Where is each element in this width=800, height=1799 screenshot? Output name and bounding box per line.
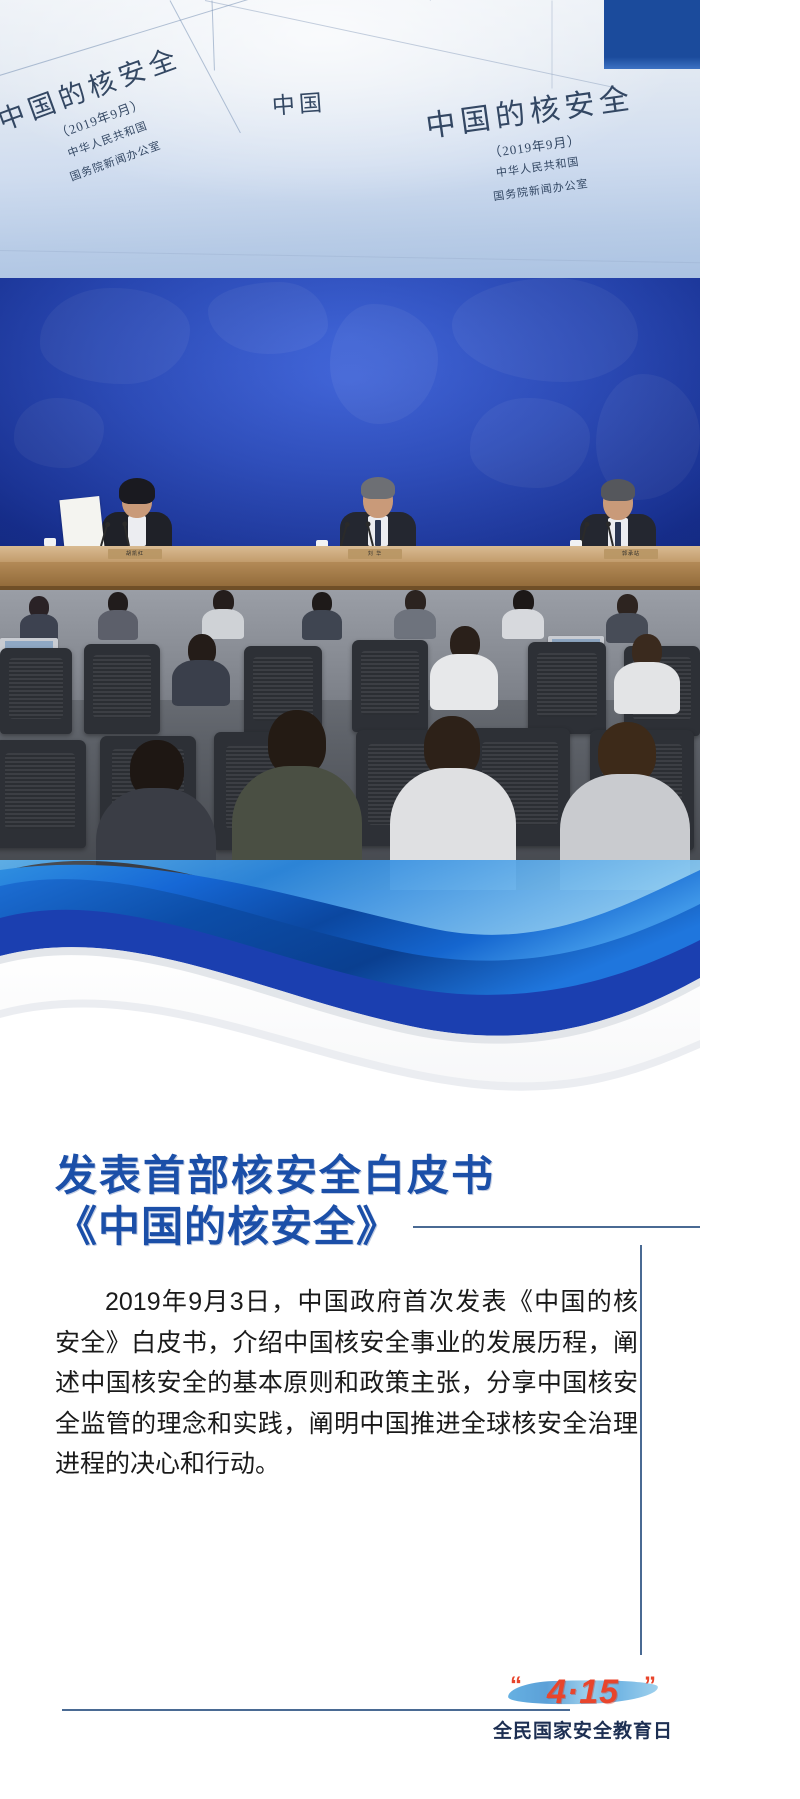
audience-person <box>200 590 246 638</box>
page-title-row2: 《中国的核安全》 <box>0 1201 700 1252</box>
article-content: 发表首部核安全白皮书 《中国的核安全》 2019年9月3日，中国政府首次发表《中… <box>0 1150 700 1485</box>
corner-accent-block-fade <box>604 57 700 69</box>
speaker-hair <box>361 477 395 499</box>
audience-area <box>0 590 700 890</box>
vertical-bracket-rule <box>640 1245 642 1655</box>
nameplate-text: 刘 华 <box>348 549 402 559</box>
nameplate-right: 郭承站 <box>604 549 658 559</box>
person-body <box>172 660 230 706</box>
press-conference-photo: 中国的核安全 （2019年9月） 中华人民共和国 国务院新闻办公室 中国 中国的… <box>0 0 700 1085</box>
nameplate-left: 胡凯红 <box>108 549 162 559</box>
person-body <box>232 766 362 890</box>
chair <box>528 642 606 734</box>
audience-person <box>612 634 682 712</box>
speaker-shirt <box>128 516 146 546</box>
person-body <box>502 609 544 639</box>
nameplate-center: 刘 华 <box>348 549 402 559</box>
speaker-tie <box>375 520 381 546</box>
nameplate-text: 郭承站 <box>604 549 658 559</box>
backdrop-crease <box>552 1 553 89</box>
logo-mark: “ 4·15 ” <box>490 1666 676 1718</box>
person-body <box>430 654 498 710</box>
speaker-hair <box>601 479 635 501</box>
audience-person-front <box>96 740 216 890</box>
title-rule <box>413 1226 700 1228</box>
audience-person-front <box>560 722 690 890</box>
person-body <box>390 768 516 890</box>
page-title-line2: 《中国的核安全》 <box>55 1201 399 1252</box>
body-paragraph: 2019年9月3日，中国政府首次发表《中国的核安全》白皮书，介绍中国核安全事业的… <box>0 1282 700 1485</box>
nameplate-text: 胡凯红 <box>108 549 162 559</box>
audience-person <box>300 592 344 638</box>
person-body <box>614 662 680 714</box>
person-body <box>302 610 342 640</box>
corner-accent-block <box>604 0 700 57</box>
footer: “ 4·15 ” 全民国家安全教育日 <box>0 1690 700 1799</box>
audience-person <box>18 596 60 640</box>
national-security-education-day-logo: “ 4·15 ” 全民国家安全教育日 <box>490 1666 676 1743</box>
audience-person <box>170 634 232 704</box>
poster-root: 中国的核安全 （2019年9月） 中华人民共和国 国务院新闻办公室 中国 中国的… <box>0 0 700 1799</box>
chair <box>84 644 160 734</box>
quote-right: ” <box>644 1674 656 1698</box>
audience-person <box>428 626 500 710</box>
audience-person-front <box>232 710 362 890</box>
chair <box>0 740 86 848</box>
audience-person <box>96 592 140 638</box>
white-paper-document <box>59 496 104 552</box>
person-body <box>98 610 138 640</box>
chair <box>0 648 72 734</box>
backdrop-cover-middle: 中国 <box>271 90 327 120</box>
audience-person-front <box>390 716 516 890</box>
person-body <box>96 788 216 890</box>
logo-caption: 全民国家安全教育日 <box>490 1716 676 1743</box>
cover-title: 中国 <box>271 90 327 120</box>
person-body <box>560 774 690 890</box>
speaker-tie <box>615 522 621 548</box>
audience-person <box>500 590 546 638</box>
speaker-hair <box>119 478 155 504</box>
right-gutter <box>700 0 800 1799</box>
page-title-line1: 发表首部核安全白皮书 <box>0 1150 700 1201</box>
